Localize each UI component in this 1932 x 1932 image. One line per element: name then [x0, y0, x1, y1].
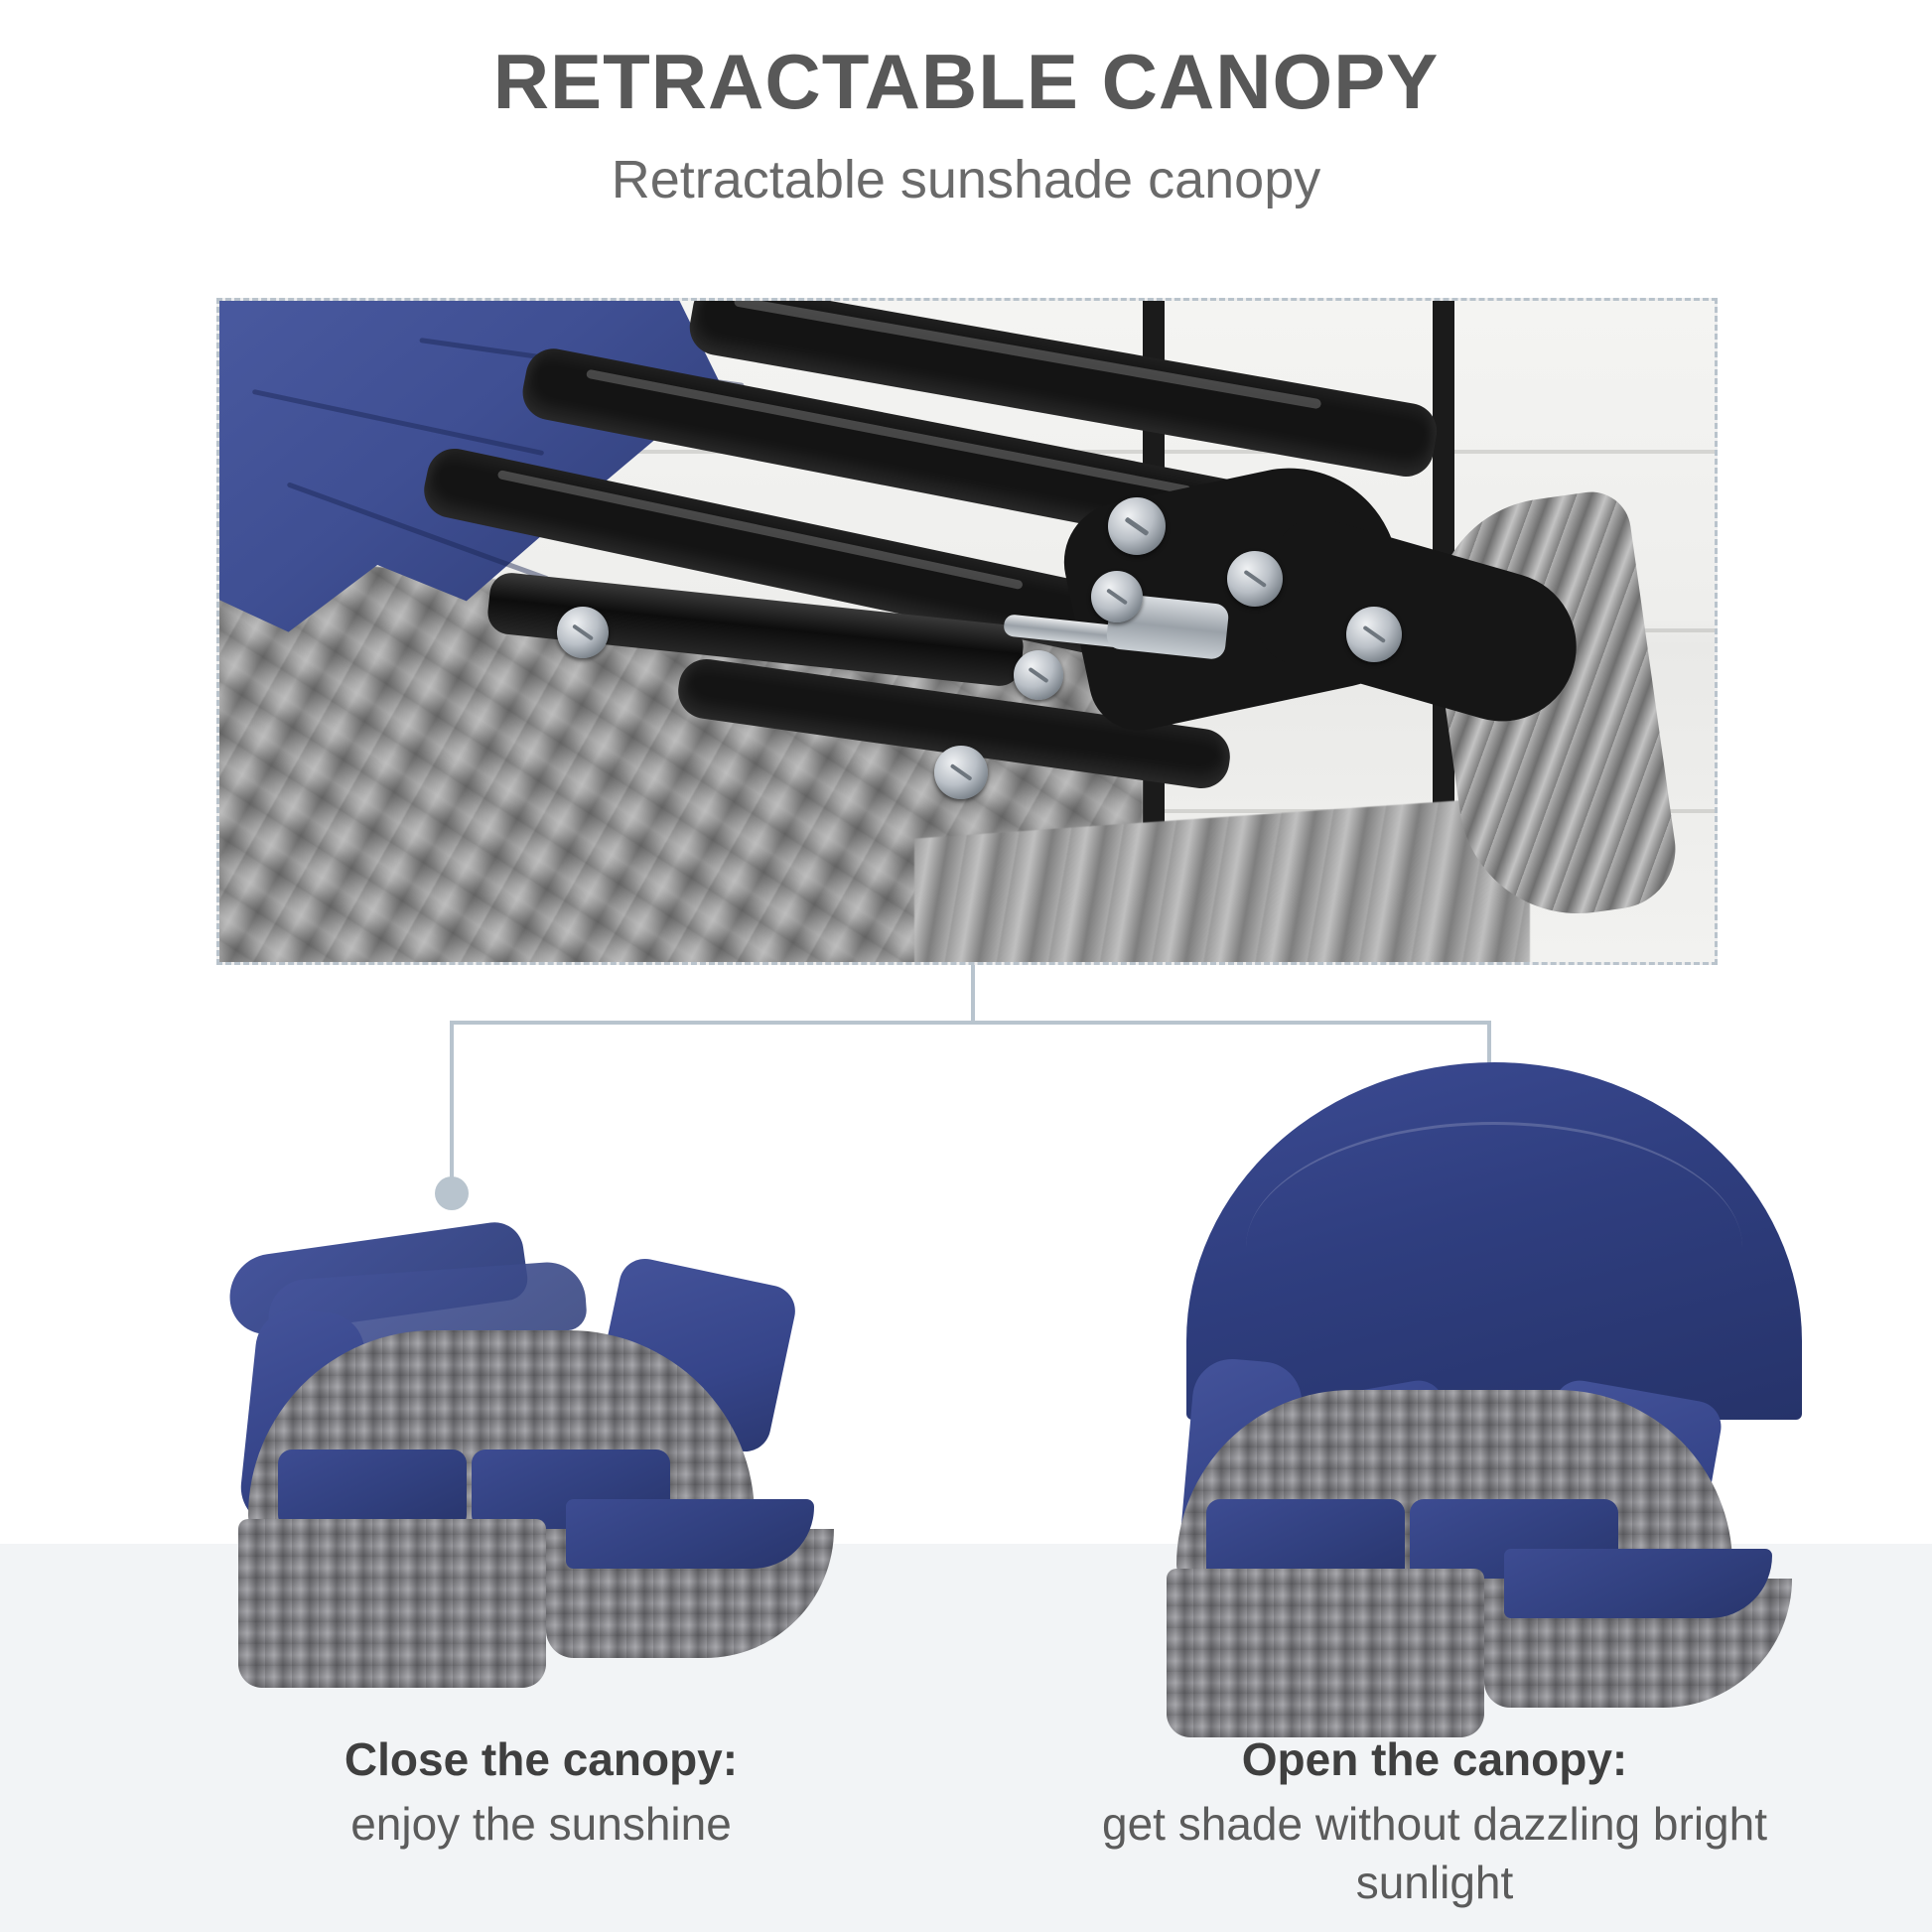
page-subtitle: Retractable sunshade canopy: [0, 151, 1932, 209]
ottoman-cushion: [1504, 1549, 1772, 1618]
caption-body: get shade without dazzling bright sunlig…: [1023, 1795, 1847, 1914]
bolt-icon: [557, 607, 609, 658]
ottoman-cushion: [566, 1499, 814, 1569]
connector-line-left: [452, 965, 973, 1183]
bolt-icon: [1108, 497, 1166, 555]
bolt-icon: [934, 746, 988, 799]
bolt-icon: [1346, 607, 1402, 662]
bolt-icon: [1091, 571, 1143, 622]
caption-title: Open the canopy:: [1023, 1731, 1847, 1789]
caption-title: Close the canopy:: [129, 1731, 953, 1789]
product-image-canopy-closed: [208, 1201, 903, 1698]
photo-content: [219, 301, 1715, 962]
canopy-seam: [1246, 1122, 1742, 1373]
page-title: RETRACTABLE CANOPY: [0, 42, 1932, 123]
caption-canopy-open: Open the canopy: get shade without dazzl…: [1023, 1731, 1847, 1913]
caption-body: enjoy the sunshine: [129, 1795, 953, 1855]
sofa-base-wicker: [1167, 1569, 1484, 1737]
canopy-mechanism-photo: [216, 298, 1718, 965]
seat-cushion-left: [278, 1449, 467, 1529]
product-image-canopy-open: [1127, 1062, 1862, 1698]
bolt-icon: [1227, 551, 1283, 607]
infographic-page: RETRACTABLE CANOPY Retractable sunshade …: [0, 0, 1932, 1932]
sofa-base-wicker: [238, 1519, 546, 1688]
caption-canopy-closed: Close the canopy: enjoy the sunshine: [129, 1731, 953, 1854]
header: RETRACTABLE CANOPY Retractable sunshade …: [0, 42, 1932, 209]
bolt-icon: [1014, 650, 1063, 700]
